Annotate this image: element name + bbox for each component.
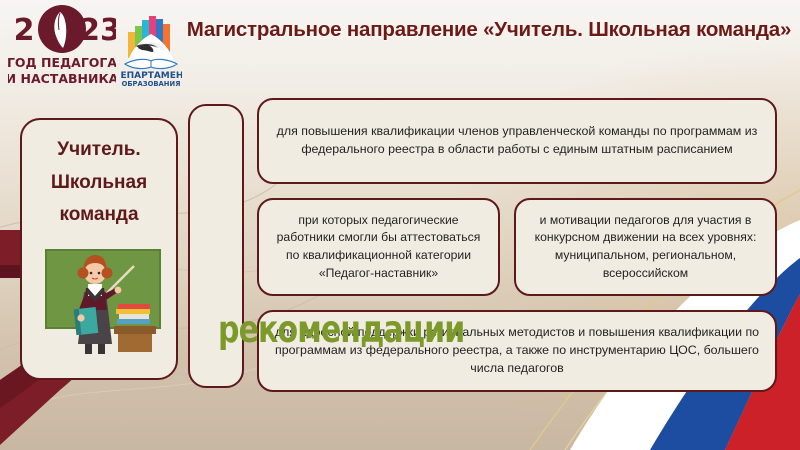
left-card-line-2: Школьная xyxy=(22,167,176,200)
page-title: Магистральное направление «Учитель. Школ… xyxy=(186,18,792,42)
svg-text:23: 23 xyxy=(79,13,116,48)
slide-canvas: 2 23 ГОД ПЕДАГОГА И НАСТАВНИКА ДЕПАРТАМЕ… xyxy=(0,0,800,450)
left-title-card: Учитель. Школьная команда xyxy=(20,118,178,380)
department-logo-line2: ОБРАЗОВАНИЯ xyxy=(122,80,181,88)
slide-header: 2 23 ГОД ПЕДАГОГА И НАСТАВНИКА ДЕПАРТАМЕ… xyxy=(0,0,800,92)
year-of-teacher-logo: 2 23 ГОД ПЕДАГОГА И НАСТАВНИКА xyxy=(8,4,116,90)
year-logo-line1: ГОД ПЕДАГОГА xyxy=(8,55,116,70)
content-box-top: для повышения квалификации членов управл… xyxy=(257,98,777,184)
year-logo-line2: И НАСТАВНИКА xyxy=(8,71,116,86)
svg-text:2: 2 xyxy=(14,13,35,48)
left-card-line-3: команда xyxy=(22,199,176,232)
gold-arc-decoration xyxy=(470,150,800,450)
content-box-middle-right: и мотивации педагогов для участия в конк… xyxy=(514,198,777,296)
left-card-title: Учитель. Школьная команда xyxy=(22,134,176,232)
overlay-word-rekomendacii: рекомендации xyxy=(218,308,464,352)
left-card-line-1: Учитель. xyxy=(22,134,176,167)
teacher-illustration xyxy=(44,248,162,356)
department-of-education-logo: ДЕПАРТАМЕНТ ОБРАЗОВАНИЯ xyxy=(120,12,182,90)
content-box-middle-left: при которых педагогические работники смо… xyxy=(257,198,500,296)
